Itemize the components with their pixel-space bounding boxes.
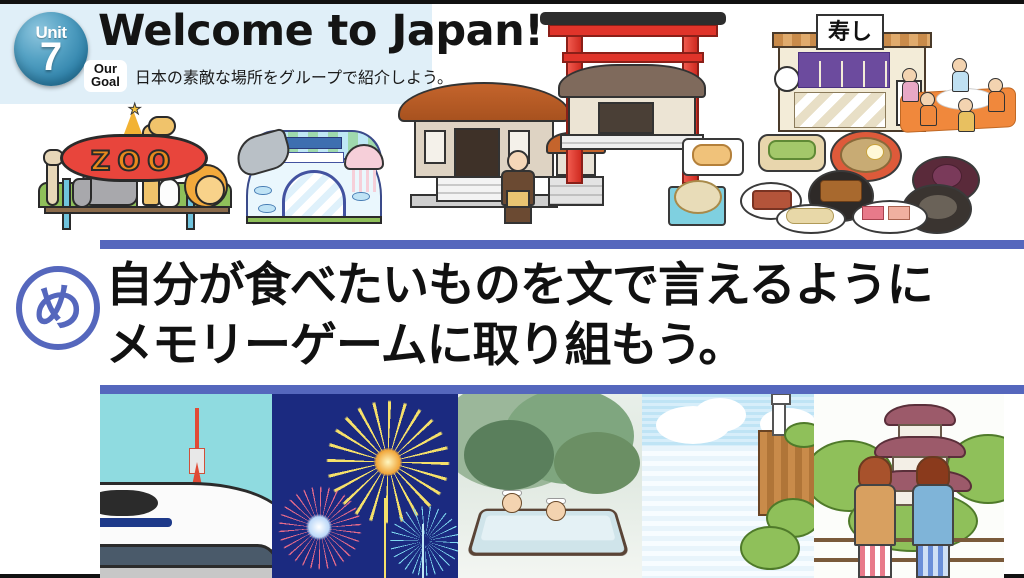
shrine-inner-sanctum — [598, 102, 654, 134]
divider-bottom — [100, 385, 1024, 394]
sashimi-piece — [862, 206, 884, 220]
aquarium-illustration — [240, 112, 388, 222]
photo-panel-fireworks — [272, 394, 458, 578]
person-figure — [952, 58, 969, 92]
tourist-skirt — [916, 544, 950, 578]
tourist-shirt — [912, 484, 954, 546]
bather-figure — [546, 498, 568, 521]
zoo-sign-text: ZOO — [63, 146, 205, 177]
zoo-gate-post — [62, 178, 71, 230]
gyoza-food — [786, 208, 834, 224]
ostrich-figure — [46, 156, 59, 206]
ramen-egg — [866, 144, 884, 160]
goal-line-1: 自分が食べたいものを文で言えるように — [106, 256, 1024, 316]
bush-shape — [740, 526, 800, 570]
person-figure — [920, 92, 937, 126]
photo-panel-castle — [814, 394, 1004, 578]
temple-window — [424, 130, 446, 164]
goal-line-2: メモリーゲームに取り組もう。 — [106, 316, 1024, 376]
ground-bar — [44, 206, 230, 214]
firework-trail — [422, 524, 424, 578]
railing-bar — [814, 558, 1004, 562]
person-body — [902, 81, 919, 102]
firework-core — [374, 448, 402, 476]
bather-head — [502, 493, 522, 513]
person-body — [920, 105, 937, 126]
person-body — [952, 71, 969, 92]
monk-figure — [498, 150, 538, 226]
shop-lantern-icon — [774, 66, 800, 92]
grass-strip — [246, 216, 382, 224]
foliage — [554, 432, 640, 494]
slide-page: Unit 7 Our Goal 日本の素敵な場所をグループで紹介しよう。 Wel… — [0, 0, 1024, 578]
picnic-illustration — [896, 54, 1020, 132]
zoo-illustration: ZOO ★ — [38, 112, 238, 218]
divider-top — [100, 240, 1024, 249]
person-figure — [958, 98, 975, 132]
person-figure — [902, 68, 919, 102]
photo-panel-train-tower — [100, 394, 272, 578]
torii-top-beam — [540, 12, 726, 25]
star-icon: ★ — [128, 100, 141, 118]
photo-strip — [0, 394, 1024, 578]
foliage — [464, 420, 554, 490]
person-figure — [988, 78, 1005, 112]
fish-icon — [258, 204, 276, 213]
railing-bar — [814, 538, 1004, 542]
firework-burst-blue — [390, 506, 458, 576]
sashimi-piece — [888, 206, 910, 220]
photo-panel-coast — [642, 394, 814, 578]
shop-window — [794, 92, 886, 128]
torii-upper-beam — [548, 24, 718, 37]
sukiyaki-vegetables — [768, 140, 816, 160]
monk-legs — [504, 206, 532, 224]
rabbit-figure — [158, 178, 180, 208]
person-body — [988, 91, 1005, 112]
firework-trail — [384, 498, 386, 578]
train-underbody — [100, 544, 272, 568]
shrine-building — [558, 64, 706, 148]
soba-bowl — [674, 180, 722, 214]
noren-curtain — [798, 52, 890, 88]
sushi-shop-sign: 寿し — [816, 14, 884, 50]
train-stripe — [100, 518, 172, 527]
tempura-food — [692, 144, 732, 166]
firework-core — [306, 514, 332, 540]
castle-roof-top — [884, 404, 956, 426]
goal-statement: 自分が食べたいものを文で言えるように メモリーゲームに取り組もう。 — [106, 256, 1024, 376]
zoo-arch-sign: ZOO — [60, 134, 208, 182]
me-circle-icon: め — [16, 266, 100, 350]
cloud-shape — [694, 398, 746, 432]
temple-entrance — [454, 128, 500, 178]
torii-crossbeam — [562, 52, 704, 63]
shrine-hall-roof — [558, 64, 706, 98]
bather-head — [546, 501, 566, 521]
monk-apron — [506, 190, 530, 208]
tourist-figure-left — [854, 456, 900, 578]
monk-head — [507, 150, 529, 172]
fish-icon — [352, 192, 370, 201]
photo-panel-onsen — [458, 394, 642, 578]
shinkansen-graphic — [100, 472, 272, 568]
person-body — [958, 111, 975, 132]
tourist-figure-right — [912, 456, 958, 578]
fish-icon — [254, 186, 272, 195]
aquarium-display-panel — [286, 137, 342, 149]
castle-roof-mid — [874, 436, 966, 458]
aquarium-window-row — [284, 152, 344, 163]
tourist-jacket — [854, 484, 896, 546]
illustration-band: ZOO ★ — [0, 4, 1024, 240]
bather-figure — [502, 490, 524, 513]
tourist-skirt — [858, 544, 892, 578]
steak-food — [752, 190, 792, 210]
unagi-food — [820, 180, 862, 202]
